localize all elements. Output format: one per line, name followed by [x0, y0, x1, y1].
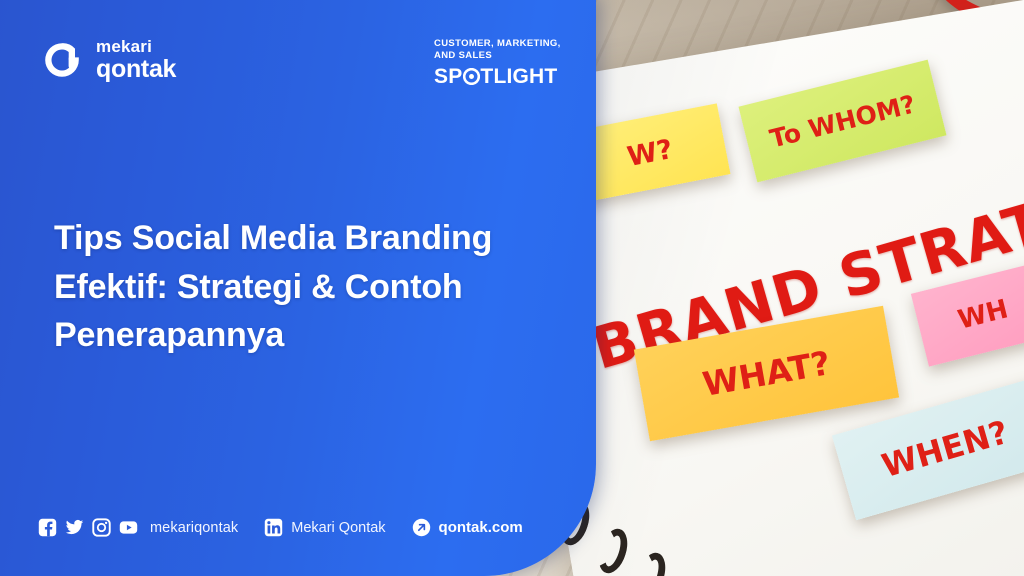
footer-bar: mekariqontak Mekari Qontak qontak.com: [38, 518, 523, 537]
spotlight-wordmark: SP TLIGHT: [434, 65, 561, 89]
twitter-icon[interactable]: [65, 518, 84, 537]
linkedin-label: Mekari Qontak: [291, 520, 385, 536]
facebook-icon[interactable]: [38, 518, 57, 537]
spotlight-word-suffix: TLIGHT: [480, 65, 557, 89]
linkedin-link[interactable]: Mekari Qontak: [264, 518, 385, 537]
spotlight-badge: CUSTOMER, MARKETING, AND SALES SP TLIGHT: [434, 38, 561, 89]
qontak-q-logo-icon: [42, 40, 82, 80]
page-title: Tips Social Media Branding Efektif: Stra…: [54, 214, 554, 360]
social-icon-group: [38, 518, 138, 537]
spotlight-target-icon: [463, 68, 480, 85]
website-label: qontak.com: [439, 519, 523, 536]
spotlight-kicker-line2: AND SALES: [434, 50, 561, 62]
sticky-note-blue-text: WHEN?: [878, 413, 1013, 485]
linkedin-icon: [264, 518, 283, 537]
mekari-qontak-logo[interactable]: mekari qontak: [42, 38, 176, 82]
sticky-note-pink-text: WH: [955, 294, 1011, 335]
spotlight-kicker-line1: CUSTOMER, MARKETING,: [434, 38, 561, 50]
instagram-icon[interactable]: [92, 518, 111, 537]
external-link-icon: [412, 518, 431, 537]
sticky-note-green-text: To WHOM?: [767, 89, 918, 153]
sticky-note-yellow-text: W?: [625, 133, 676, 172]
logo-qontak-text: qontak: [96, 57, 176, 82]
website-link[interactable]: qontak.com: [412, 518, 523, 537]
sticky-note-orange-text: WHAT?: [700, 343, 833, 404]
youtube-icon[interactable]: [119, 518, 138, 537]
banner-canvas: BRAND STRATEGY W? To WHOM? WH WHAT? WHEN…: [0, 0, 1024, 576]
logo-mekari-text: mekari: [96, 38, 176, 55]
spotlight-word-prefix: SP: [434, 65, 462, 89]
social-handle-text: mekariqontak: [150, 520, 238, 536]
logo-wordmark: mekari qontak: [96, 38, 176, 82]
blue-content-panel: mekari qontak CUSTOMER, MARKETING, AND S…: [0, 0, 596, 576]
